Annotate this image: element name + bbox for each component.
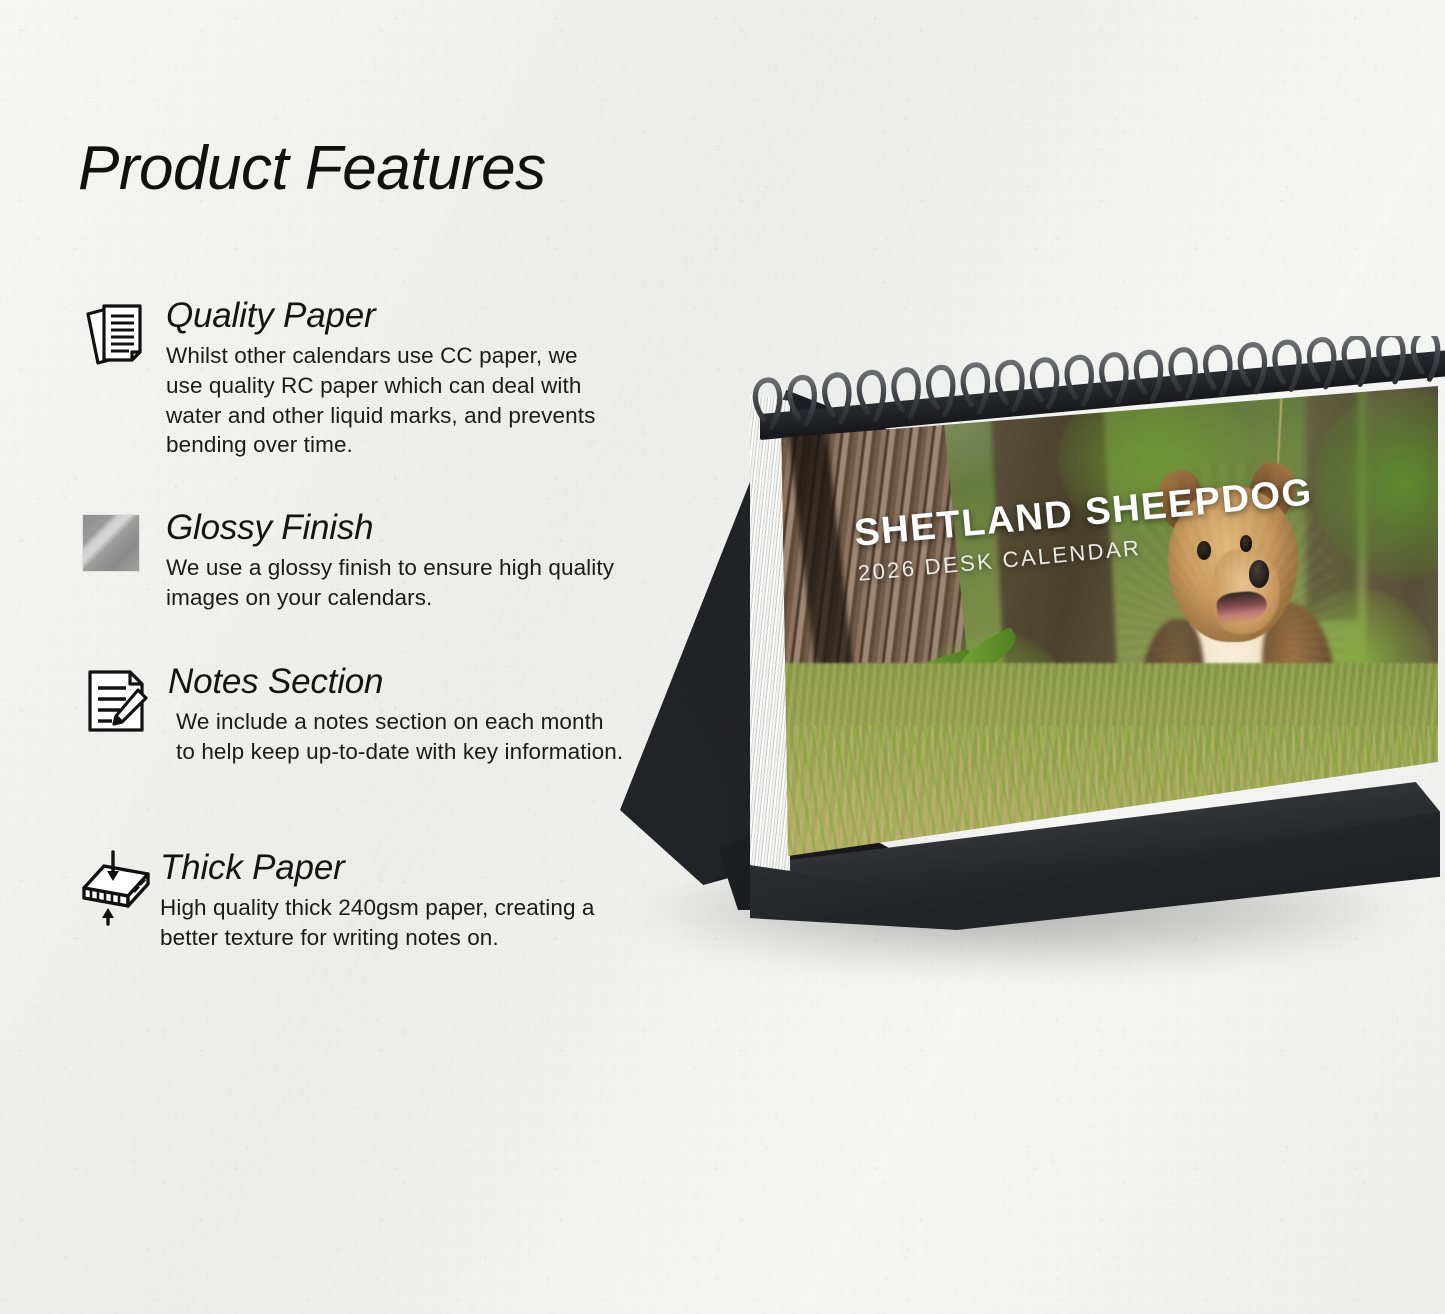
desk-calendar-mockup: SHETLAND SHEEPDOG 2026 DESK CALENDAR (600, 330, 1430, 990)
glossy-swatch-icon (78, 508, 156, 586)
feature-body: Thick Paper High quality thick 240gsm pa… (160, 848, 638, 953)
feature-description: Whilst other calendars use CC paper, we … (166, 341, 616, 460)
feature-body: Quality Paper Whilst other calendars use… (166, 296, 638, 460)
feature-description: High quality thick 240gsm paper, creatin… (160, 893, 610, 952)
feature-thick-paper: Thick Paper High quality thick 240gsm pa… (78, 848, 638, 953)
feature-title: Thick Paper (160, 848, 638, 887)
stacked-documents-icon (78, 296, 156, 374)
feature-body: Notes Section We include a notes section… (168, 662, 638, 767)
note-pencil-icon (78, 662, 156, 740)
cover-photograph (768, 386, 1438, 856)
feature-notes-section: Notes Section We include a notes section… (78, 662, 638, 767)
feature-description: We include a notes section on each month… (176, 707, 626, 766)
glossy-gradient-swatch (82, 514, 140, 572)
feature-title: Quality Paper (166, 296, 638, 335)
product-features-page: Product Features Qua (0, 0, 1445, 1314)
feature-glossy-finish: Glossy Finish We use a glossy finish to … (78, 508, 638, 613)
feature-quality-paper: Quality Paper Whilst other calendars use… (78, 296, 638, 460)
feature-body: Glossy Finish We use a glossy finish to … (166, 508, 638, 613)
page-title: Product Features (78, 136, 638, 201)
calendar-cover-panel: SHETLAND SHEEPDOG 2026 DESK CALENDAR (768, 386, 1438, 856)
features-column: Product Features (78, 136, 638, 201)
feature-description: We use a glossy finish to ensure high qu… (166, 553, 616, 612)
feature-title: Notes Section (168, 662, 638, 701)
feature-title: Glossy Finish (166, 508, 638, 547)
paper-thickness-icon (78, 848, 156, 926)
